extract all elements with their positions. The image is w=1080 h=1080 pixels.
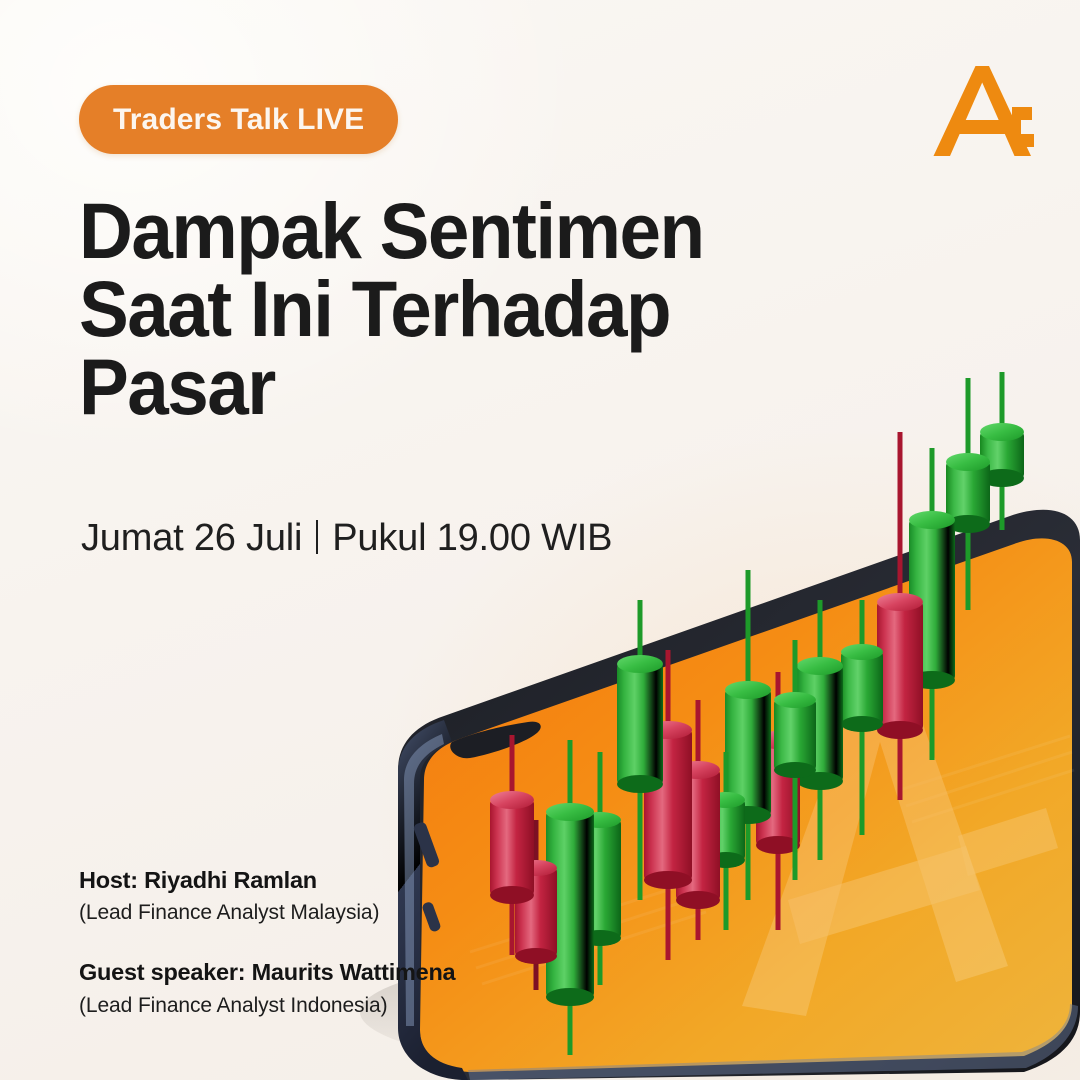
speaker-credits: Host: Riyadhi Ramlan (Lead Finance Analy… (79, 866, 455, 1019)
guest-name: Guest speaker: Maurits Wattimena (79, 958, 455, 986)
guest-credit: Guest speaker: Maurits Wattimena (Lead F… (79, 958, 455, 1018)
host-name: Host: Riyadhi Ramlan (79, 866, 455, 894)
poster-canvas: Traders Talk LIVE Dampak Sentimen Saat I… (0, 0, 1080, 1080)
host-credit: Host: Riyadhi Ramlan (Lead Finance Analy… (79, 866, 455, 926)
host-role: (Lead Finance Analyst Malaysia) (79, 899, 455, 926)
guest-role: (Lead Finance Analyst Indonesia) (79, 992, 455, 1019)
